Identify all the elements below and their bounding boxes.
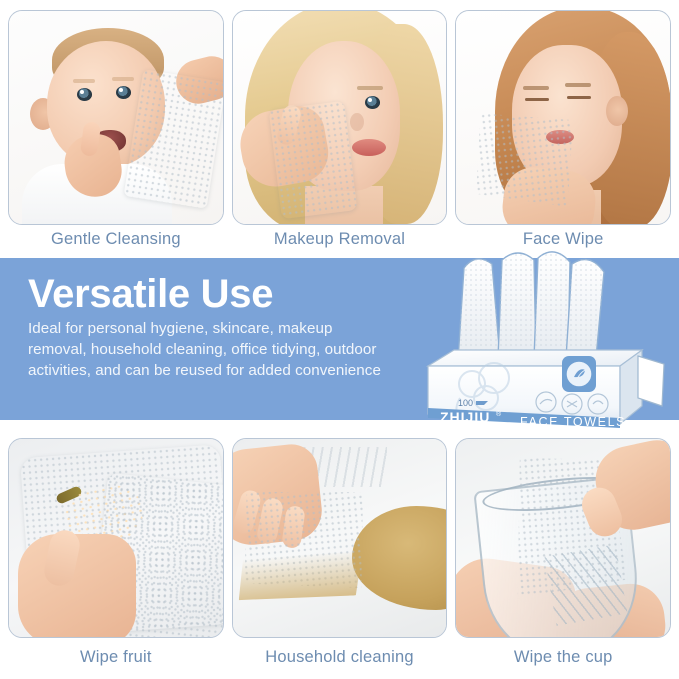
photo-panel-makeup-removal: [232, 10, 448, 225]
infographic-sheet: Gentle Cleansing Makeup Removal Face Wip…: [0, 0, 679, 679]
caption-wipe-the-cup: Wipe the cup: [455, 644, 671, 672]
tissue-plume: [458, 252, 604, 360]
photo-panel-wipe-fruit: [8, 438, 224, 638]
photo-panel-household-cleaning: [232, 438, 448, 638]
photo-panel-wipe-the-cup: [455, 438, 671, 638]
bottom-photo-row: [0, 438, 679, 638]
package-count: 100: [458, 398, 473, 408]
package-registered-mark: ®: [496, 410, 502, 418]
top-photo-row: [0, 10, 679, 225]
caption-household-cleaning: Household cleaning: [232, 644, 448, 672]
banner-headline: Versatile Use: [28, 272, 438, 316]
banner-body-line-2: removal, household cleaning, office tidy…: [28, 339, 438, 360]
photo-panel-gentle-cleansing: [8, 10, 224, 225]
caption-wipe-fruit: Wipe fruit: [8, 644, 224, 672]
bottom-caption-row: Wipe fruit Household cleaning Wipe the c…: [0, 644, 679, 672]
banner-body-line-1: Ideal for personal hygiene, skincare, ma…: [28, 318, 438, 339]
package-brand: ZHIJIU: [440, 409, 490, 425]
product-package: 100: [414, 238, 672, 438]
caption-gentle-cleansing: Gentle Cleansing: [8, 226, 224, 252]
photo-panel-face-wipe: [455, 10, 671, 225]
versatile-use-banner: Versatile Use Ideal for personal hygiene…: [0, 258, 679, 420]
package-product-name: FACE TOWELS: [520, 415, 626, 429]
banner-body-line-3: activities, and can be reused for added …: [28, 360, 438, 381]
leaf-seal-badge: [562, 356, 596, 392]
banner-body-text: Ideal for personal hygiene, skincare, ma…: [28, 318, 438, 381]
